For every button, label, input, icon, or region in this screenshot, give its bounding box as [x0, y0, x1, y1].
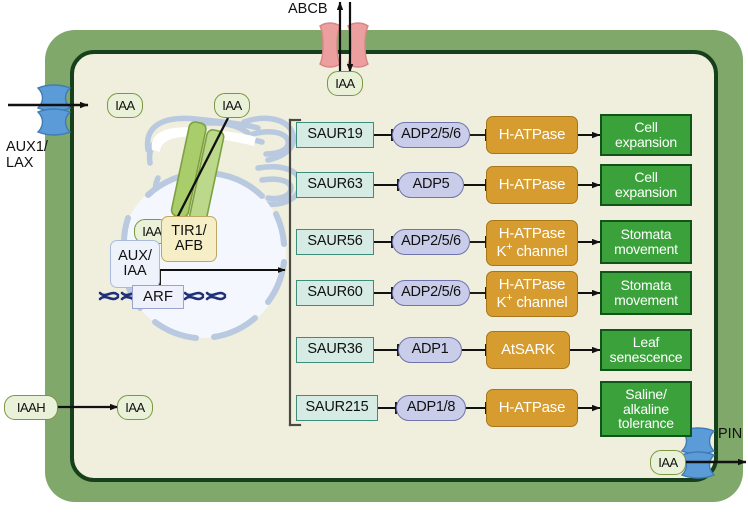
node-saur-SAUR56[interactable]: SAUR56 [296, 229, 374, 255]
node-outcome-row4[interactable]: Stomata movement [600, 271, 692, 315]
effector-line2: K+ channel [496, 242, 567, 260]
node-outcome-row2[interactable]: Cell expansion [600, 164, 692, 206]
effector-line1: H-ATPase [499, 277, 565, 293]
node-effector-row5[interactable]: AtSARK [486, 331, 570, 369]
node-outcome-row3[interactable]: Stomata movement [600, 220, 692, 264]
node-effector-row6[interactable]: H-ATPase [486, 389, 578, 427]
iaa-badge-iaah-product: IAA [117, 395, 153, 420]
node-saur-SAUR60[interactable]: SAUR60 [296, 280, 374, 306]
node-saur-SAUR36[interactable]: SAUR36 [296, 337, 374, 363]
effector-line1: H-ATPase [499, 226, 565, 242]
aux1-lax-label: AUX1/ LAX [6, 140, 48, 171]
iaah-badge: IAAH [4, 395, 58, 420]
node-adp-row3[interactable]: ADP2/5/6 [392, 229, 470, 255]
node-outcome-row6[interactable]: Saline/ alkaline tolerance [600, 381, 692, 437]
node-outcome-row1[interactable]: Cell expansion [600, 114, 692, 156]
node-adp-row2[interactable]: ADP5 [398, 172, 464, 198]
aux-iaa-repressor: AUX/ IAA [110, 240, 160, 288]
effector-line2: K+ channel [496, 293, 567, 311]
node-saur-SAUR215[interactable]: SAUR215 [296, 395, 378, 421]
node-saur-SAUR63[interactable]: SAUR63 [296, 172, 374, 198]
iaa-badge-cytoplasm-left: IAA [107, 93, 143, 118]
node-adp-row1[interactable]: ADP2/5/6 [392, 122, 470, 148]
iaa-badge-abcb: IAA [327, 71, 363, 96]
node-effector-row1[interactable]: H-ATPase [486, 116, 578, 154]
node-outcome-row5[interactable]: Leaf senescence [600, 329, 692, 371]
node-adp-row5[interactable]: ADP1 [398, 337, 462, 363]
tir1-afb-receptor: TIR1/ AFB [161, 216, 217, 262]
node-effector-row3[interactable]: H-ATPase K+ channel [486, 220, 578, 266]
arf-transcription-factor: ARF [132, 285, 184, 309]
abcb-label: ABCB [288, 2, 328, 18]
pin-label: PIN [718, 427, 742, 443]
node-saur-SAUR19[interactable]: SAUR19 [296, 122, 374, 148]
figure-canvas: AUX1/ LAX ABCB PIN IAA IAA IAA IAA IAA I… [0, 0, 748, 532]
iaa-badge-cytoplasm-mid: IAA [214, 93, 250, 118]
node-adp-row4[interactable]: ADP2/5/6 [392, 280, 470, 306]
node-adp-row6[interactable]: ADP1/8 [396, 395, 466, 421]
node-effector-row2[interactable]: H-ATPase [486, 166, 578, 204]
node-effector-row4[interactable]: H-ATPase K+ channel [486, 271, 578, 317]
iaa-badge-pin: IAA [650, 450, 686, 475]
aux1-lax-transporter [38, 85, 70, 135]
